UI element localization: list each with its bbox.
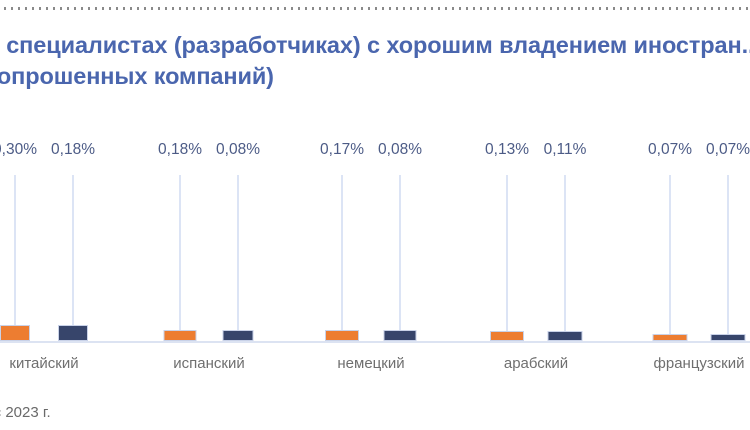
leader-line (14, 175, 16, 341)
bar-slot: 0,18% (41, 130, 105, 341)
top-dotted-rule (0, 7, 750, 10)
category-label: арабский (504, 355, 568, 372)
bar-value-label: 0,18% (51, 141, 95, 159)
bar (711, 334, 746, 341)
bar (653, 334, 688, 341)
bar (548, 331, 583, 341)
bar-value-label: 0,13% (485, 141, 529, 159)
bar (325, 330, 359, 341)
bar (0, 325, 30, 341)
bar-slot: 0,11% (533, 130, 597, 341)
bar (58, 325, 88, 341)
bar-value-label: 0,07% (706, 141, 750, 159)
leader-line (179, 175, 181, 341)
bar-slot: 0,17% (310, 130, 374, 341)
bar-slot: 0,07% (696, 130, 750, 341)
leader-line (564, 175, 566, 341)
bar-value-label: 0,11% (544, 141, 587, 159)
category-label: немецкий (337, 355, 404, 372)
bar-chart-plot-area: 0,30%0,18%0,18%0,08%0,17%0,08%0,13%0,11%… (0, 130, 750, 352)
bar-value-label: 0,18% (158, 141, 202, 159)
leader-line (506, 175, 508, 341)
category-label: китайский (9, 355, 78, 372)
leader-line (341, 175, 343, 341)
title-line-2: ...та всех опрошенных компаний) (0, 61, 750, 92)
bar-value-label: 0,30% (0, 141, 37, 159)
bar-group: 0,18%0,08% (145, 130, 273, 352)
leader-line (237, 175, 239, 341)
bar-group: 0,30%0,18% (0, 130, 108, 352)
leader-line (399, 175, 401, 341)
slide-canvas: ...ических специалистах (разработчиках) … (0, 0, 750, 430)
bar-value-label: 0,07% (648, 141, 692, 159)
leader-line (72, 175, 74, 341)
bar (164, 330, 197, 341)
bar-value-label: 0,17% (320, 141, 364, 159)
bar (384, 330, 417, 341)
bar-group: 0,07%0,07% (635, 130, 750, 352)
title-line-1: ...ических специалистах (разработчиках) … (0, 30, 750, 61)
page-title: ...ических специалистах (разработчиках) … (0, 30, 750, 92)
bar-value-label: 0,08% (216, 141, 260, 159)
category-label: французский (654, 355, 745, 372)
bar-slot: 0,13% (475, 130, 539, 341)
leader-line (727, 175, 729, 341)
bar-value-label: 0,08% (378, 141, 422, 159)
bar-slot: 0,18% (148, 130, 212, 341)
bar (223, 330, 254, 341)
category-label: испанский (173, 355, 244, 372)
footer-source-note: ...опрос 2023 г. (0, 404, 51, 421)
leader-line (669, 175, 671, 341)
bar-slot: 0,08% (206, 130, 270, 341)
bar-slot: 0,30% (0, 130, 47, 341)
bar (490, 331, 524, 341)
bar-group: 0,13%0,11% (472, 130, 600, 352)
bar-group: 0,17%0,08% (307, 130, 435, 352)
category-axis-labels: китайскийиспанскийнемецкийарабскийфранцу… (0, 355, 750, 379)
bar-slot: 0,08% (368, 130, 432, 341)
bar-slot: 0,07% (638, 130, 702, 341)
